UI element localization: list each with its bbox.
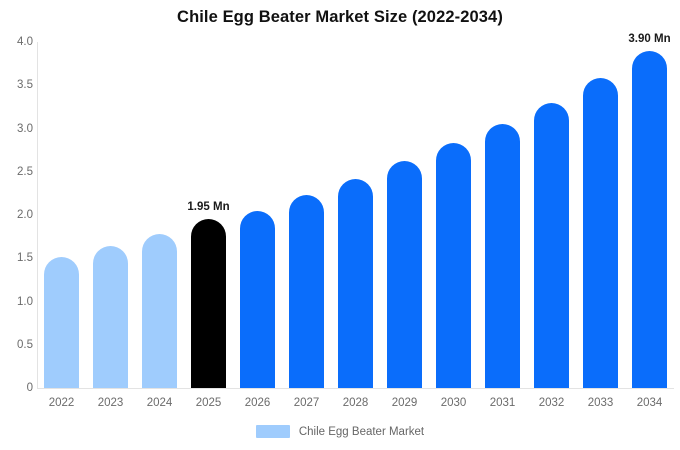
bar-2028[interactable]	[338, 179, 373, 388]
y-axis: 00.51.01.52.02.53.03.54.0	[0, 0, 33, 450]
x-axis-tick-label-2026: 2026	[245, 397, 271, 409]
x-axis-tick-label-2029: 2029	[392, 397, 418, 409]
y-axis-tick-label: 1.0	[3, 296, 33, 308]
y-axis-tick-label: 2.5	[3, 166, 33, 178]
bar-chart: Chile Egg Beater Market Size (2022-2034)…	[0, 0, 680, 450]
bar-2025[interactable]	[191, 219, 226, 388]
y-axis-tick-label: 1.5	[3, 252, 33, 264]
x-axis-tick-label-2023: 2023	[98, 397, 124, 409]
chart-legend: Chile Egg Beater Market	[0, 425, 680, 438]
x-axis-tick-label-2033: 2033	[588, 397, 614, 409]
bar-value-label-2034: 3.90 Mn	[628, 33, 670, 45]
bar-2034[interactable]	[632, 51, 667, 388]
y-axis-tick-label: 3.0	[3, 123, 33, 135]
x-axis-tick-label-2030: 2030	[441, 397, 467, 409]
bar-2027[interactable]	[289, 195, 324, 388]
x-axis-tick-label-2024: 2024	[147, 397, 173, 409]
bar-2030[interactable]	[436, 143, 471, 388]
bars-layer	[37, 42, 674, 388]
bar-2023[interactable]	[93, 246, 128, 388]
legend-item[interactable]: Chile Egg Beater Market	[256, 425, 424, 438]
x-axis-tick-label-2031: 2031	[490, 397, 516, 409]
x-axis-tick-label-2027: 2027	[294, 397, 320, 409]
bar-2033[interactable]	[583, 78, 618, 388]
chart-title: Chile Egg Beater Market Size (2022-2034)	[0, 8, 680, 27]
bar-2022[interactable]	[44, 257, 79, 388]
x-axis-tick-label-2028: 2028	[343, 397, 369, 409]
y-axis-tick-label: 0	[3, 382, 33, 394]
bar-2024[interactable]	[142, 234, 177, 388]
y-axis-tick-label: 2.0	[3, 209, 33, 221]
x-axis-tick-label-2032: 2032	[539, 397, 565, 409]
x-axis-tick-label-2025: 2025	[196, 397, 222, 409]
bar-2031[interactable]	[485, 124, 520, 388]
bar-value-label-2025: 1.95 Mn	[187, 201, 229, 213]
bar-2032[interactable]	[534, 103, 569, 388]
x-axis-tick-label-2034: 2034	[637, 397, 663, 409]
x-axis-tick-label-2022: 2022	[49, 397, 75, 409]
bar-2029[interactable]	[387, 161, 422, 388]
y-axis-tick-label: 4.0	[3, 36, 33, 48]
bar-2026[interactable]	[240, 211, 275, 388]
y-axis-tick-label: 3.5	[3, 79, 33, 91]
legend-swatch-icon	[256, 425, 290, 438]
legend-label: Chile Egg Beater Market	[299, 426, 424, 438]
x-axis-line	[37, 388, 674, 389]
y-axis-tick-label: 0.5	[3, 339, 33, 351]
